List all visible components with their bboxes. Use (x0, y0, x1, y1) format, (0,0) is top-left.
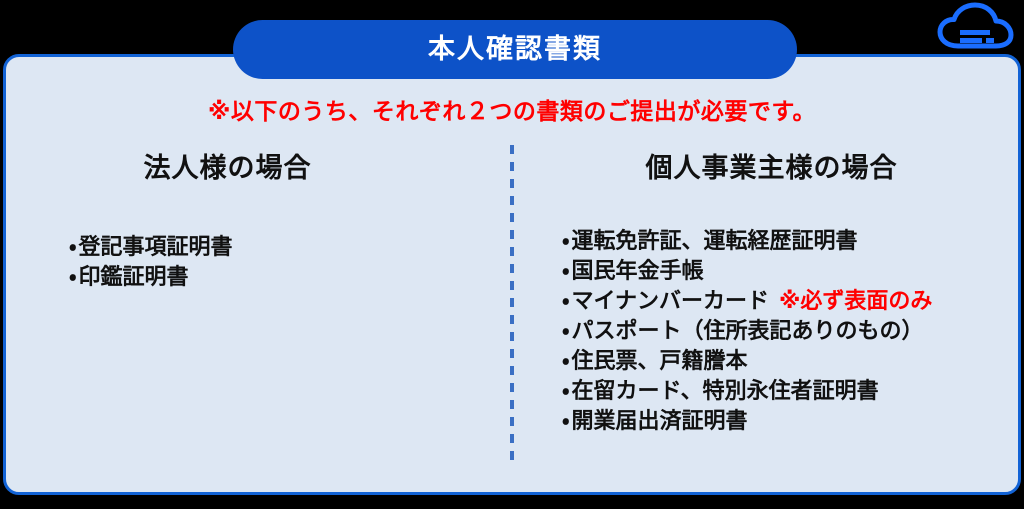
document-label: 開業届出済証明書 (571, 409, 747, 434)
page-title: 本人確認書類 (428, 36, 602, 63)
document-label: 登記事項証明書 (78, 235, 232, 260)
list-item: ・在留カード、特別永住者証明書 (562, 377, 1021, 407)
list-item: ・登記事項証明書 (69, 233, 512, 263)
document-label: 印鑑証明書 (78, 265, 188, 290)
list-item: ・マイナンバーカード※必ず表面のみ (562, 287, 1021, 317)
column-corporate: 法人様の場合 ・登記事項証明書 ・印鑑証明書 (3, 134, 512, 474)
document-label: パスポート（住所表記ありのもの） (571, 319, 923, 344)
document-note: ※必ず表面のみ (779, 289, 932, 314)
document-label: 住民票、戸籍謄本 (571, 349, 747, 374)
list-item: ・国民年金手帳 (562, 257, 1021, 287)
bullet-icon: ・ (562, 289, 569, 314)
list-item: ・印鑑証明書 (69, 263, 512, 293)
document-label: 運転免許証、運転経歴証明書 (571, 229, 857, 254)
document-label: 在留カード、特別永住者証明書 (571, 379, 878, 404)
column-sole-proprietor: 個人事業主様の場合 ・運転免許証、運転経歴証明書 ・国民年金手帳 ・マイナンバー… (512, 134, 1021, 474)
document-list-sole-proprietor: ・運転免許証、運転経歴証明書 ・国民年金手帳 ・マイナンバーカード※必ず表面のみ… (512, 227, 1021, 437)
bullet-icon: ・ (562, 319, 569, 344)
document-label: マイナンバーカード (571, 289, 769, 314)
bullet-icon: ・ (562, 349, 569, 374)
list-item: ・開業届出済証明書 (562, 407, 1021, 437)
document-canvas: 本人確認書類 ※以下のうち、それぞれ２つの書類のご提出が必要です。 法人様の場合… (0, 0, 1024, 509)
list-item: ・運転免許証、運転経歴証明書 (562, 227, 1021, 257)
bullet-icon: ・ (562, 379, 569, 404)
bullet-icon: ・ (69, 235, 76, 260)
list-item: ・住民票、戸籍謄本 (562, 347, 1021, 377)
document-label: 国民年金手帳 (571, 259, 703, 284)
column-divider (510, 145, 514, 463)
list-item: ・パスポート（住所表記ありのもの） (562, 317, 1021, 347)
document-list-corporate: ・登記事項証明書 ・印鑑証明書 (3, 233, 512, 293)
column-heading-corporate: 法人様の場合 (3, 134, 512, 185)
submission-notice: ※以下のうち、それぞれ２つの書類のご提出が必要です。 (0, 92, 1024, 126)
bullet-icon: ・ (562, 229, 569, 254)
cloud-icon (934, 2, 1016, 52)
bullet-icon: ・ (69, 265, 76, 290)
page-title-banner: 本人確認書類 (233, 20, 797, 79)
column-heading-sole-proprietor: 個人事業主様の場合 (512, 134, 1021, 185)
bullet-icon: ・ (562, 259, 569, 284)
bullet-icon: ・ (562, 409, 569, 434)
